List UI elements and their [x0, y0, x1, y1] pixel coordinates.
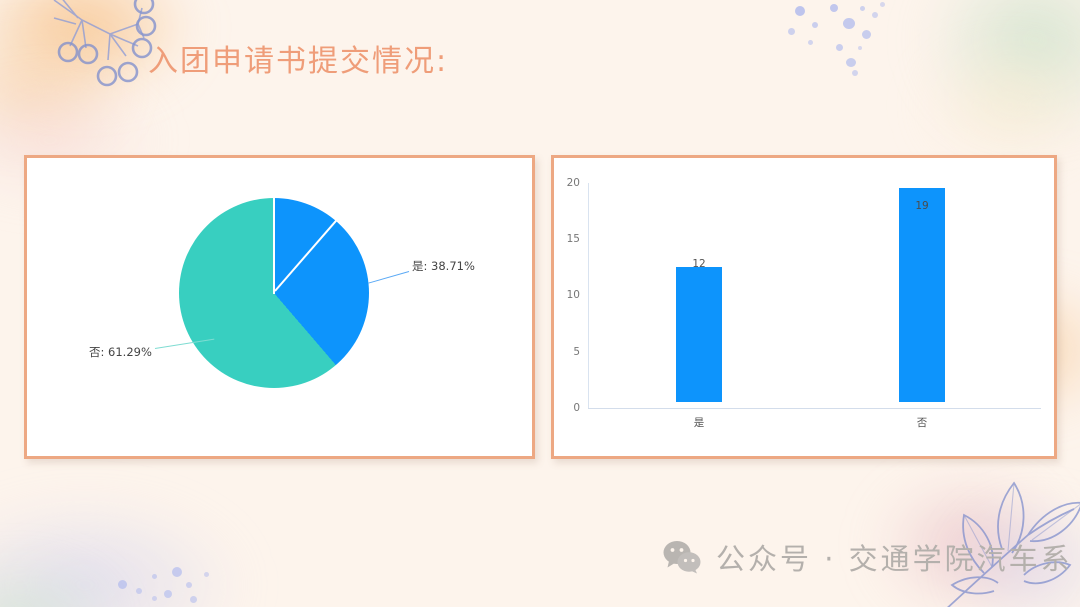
paint-splatter-dot: [862, 30, 871, 39]
paint-splatter-dot: [843, 18, 855, 29]
y-axis-tick-0: 0: [554, 402, 580, 414]
bar-value-yes: 12: [676, 258, 722, 270]
watercolor-wash-bottom-left-green: [0, 560, 120, 607]
y-axis-tick-15: 15: [554, 233, 580, 245]
pie-label-no: 否: 61.29%: [89, 344, 152, 360]
paint-splatter-dot: [858, 46, 862, 50]
paint-splatter-dot: [118, 580, 127, 589]
bar-chart: 20 15 10 5 0 12 19 是 否: [554, 158, 1054, 456]
watercolor-wash-top-left-orange-2: [0, 30, 130, 150]
pie-chart: 是: 38.71% 否: 61.29%: [27, 158, 532, 456]
paint-splatter-dot: [136, 588, 142, 594]
paint-splatter-dot: [860, 6, 865, 11]
watercolor-wash-top-right-cream: [920, 40, 1080, 170]
paint-splatter-dot: [852, 70, 858, 76]
paint-splatter-dot: [846, 58, 856, 67]
y-axis-tick-20: 20: [554, 177, 580, 189]
watercolor-wash-bottom-left-lavender: [0, 495, 250, 607]
paint-splatter-dot: [812, 22, 818, 28]
paint-splatter-dot: [152, 596, 157, 601]
paint-splatter-dot: [808, 40, 813, 45]
paint-splatter-dot: [880, 2, 885, 7]
bar-no: [899, 188, 945, 402]
paint-splatter-dot: [186, 582, 192, 588]
x-axis-line: [588, 408, 1041, 409]
footer: 公众号 · 交通学院汽车系: [662, 536, 1073, 578]
bar-chart-card: 20 15 10 5 0 12 19 是 否: [551, 155, 1057, 459]
pie-chart-card: 是: 38.71% 否: 61.29%: [24, 155, 535, 459]
bar-yes: [676, 267, 722, 402]
paint-splatter-dot: [164, 590, 172, 598]
bar-value-no: 19: [899, 200, 945, 212]
paint-splatter-dot: [172, 567, 182, 577]
pie-label-yes: 是: 38.71%: [412, 258, 475, 274]
y-axis-tick-10: 10: [554, 289, 580, 301]
y-axis-line: [588, 183, 589, 408]
pie-leader-line-yes: [368, 271, 409, 284]
y-axis-tick-5: 5: [554, 346, 580, 358]
paint-splatter-dot: [830, 4, 838, 12]
paint-splatter-dot: [152, 574, 157, 579]
paint-splatter-dot: [836, 44, 843, 51]
footer-text: 公众号 · 交通学院汽车系: [716, 536, 1073, 578]
paint-splatter-dot: [190, 596, 197, 603]
leaf-branch-decoration: [924, 463, 1080, 607]
x-axis-label-no: 否: [899, 415, 945, 430]
paint-splatter-dot: [795, 6, 805, 16]
paint-splatter-dot: [872, 12, 878, 18]
paint-splatter-dot: [788, 28, 795, 35]
pie-slice-divider: [273, 198, 275, 294]
watercolor-wash-top-right-green: [920, 0, 1080, 140]
page-title: 入团申请书提交情况:: [148, 36, 448, 80]
paint-splatter-dot: [204, 572, 209, 577]
x-axis-label-yes: 是: [676, 415, 722, 430]
wechat-icon: [662, 540, 702, 574]
